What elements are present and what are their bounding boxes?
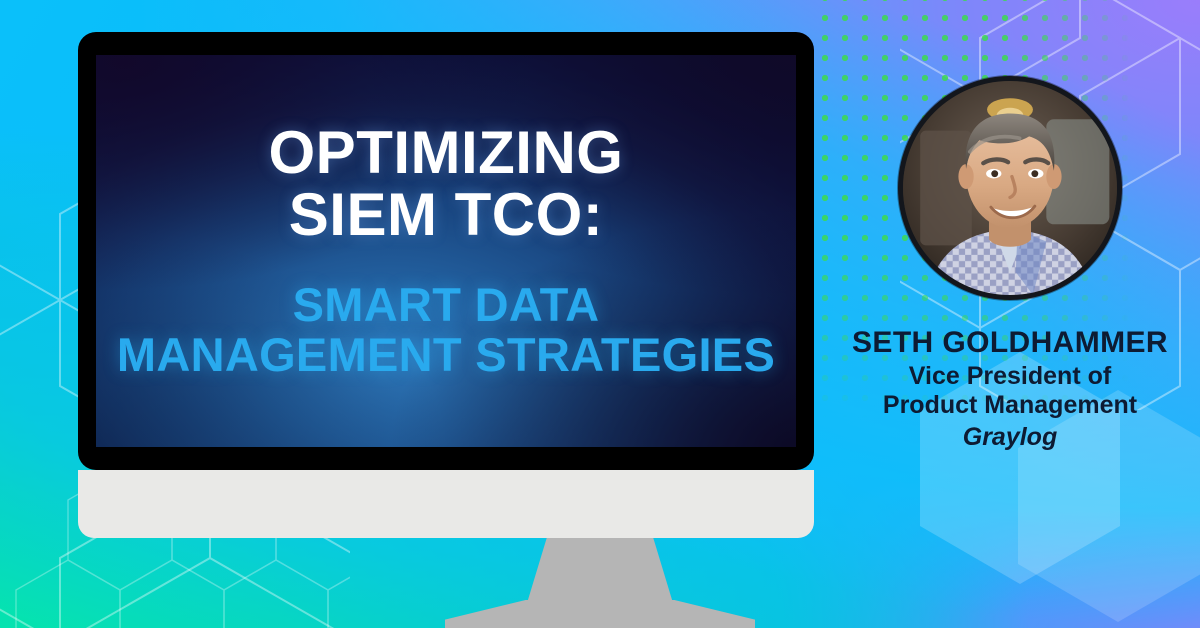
monitor-screen: OPTIMIZING SIEM TCO: SMART DATA MANAGEME… [96,55,796,447]
slide-title: OPTIMIZING SIEM TCO: [102,122,790,246]
monitor-device: OPTIMIZING SIEM TCO: SMART DATA MANAGEME… [78,32,814,470]
speaker-role-line-2: Product Management [828,391,1192,421]
speaker-role: Vice President of Product Management [828,362,1192,421]
speaker-role-line-1: Vice President of [828,362,1192,392]
headshot-photo-icon [903,81,1117,295]
slide-subtitle-line-2: MANAGEMENT STRATEGIES [102,330,790,380]
avatar [898,76,1122,300]
slide-subtitle: SMART DATA MANAGEMENT STRATEGIES [102,280,790,381]
slide-subtitle-line-1: SMART DATA [102,280,790,330]
speaker-info: SETH GOLDHAMMER Vice President of Produc… [820,326,1200,452]
speaker-block: SETH GOLDHAMMER Vice President of Produc… [820,0,1200,628]
speaker-company: Graylog [828,422,1192,452]
speaker-name: SETH GOLDHAMMER [828,326,1192,360]
slide-title-line-2: SIEM TCO: [102,184,790,246]
slide-title-line-1: OPTIMIZING [102,122,790,184]
promo-banner: OPTIMIZING SIEM TCO: SMART DATA MANAGEME… [0,0,1200,628]
monitor-chin [78,470,814,538]
